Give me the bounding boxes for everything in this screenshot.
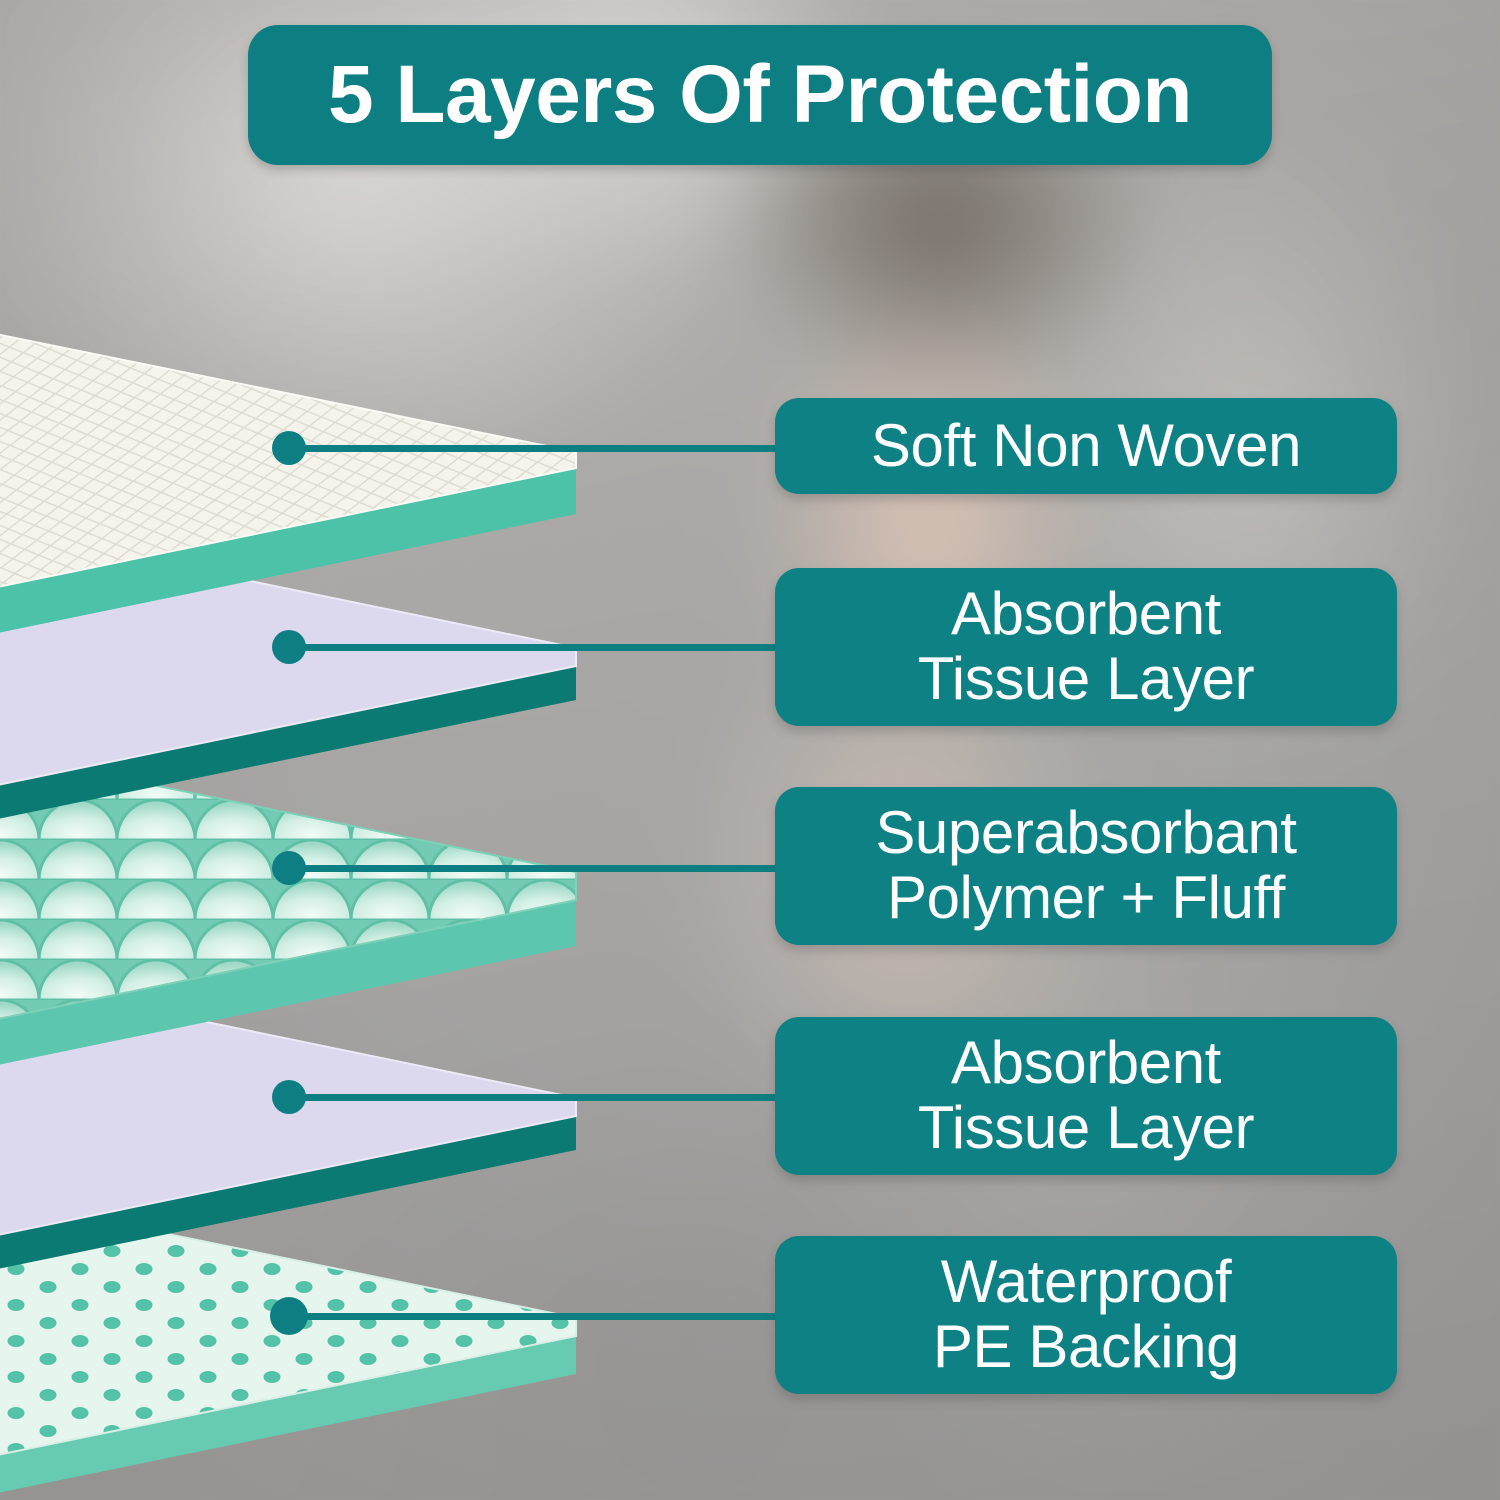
page-title: 5 Layers Of Protection	[248, 25, 1272, 165]
label-waterproof-pe-backing-text: Waterproof PE Backing	[907, 1250, 1265, 1380]
leader-line-2	[288, 644, 780, 651]
label-soft-non-woven-text: Soft Non Woven	[845, 414, 1327, 479]
label-soft-non-woven[interactable]: Soft Non Woven	[775, 398, 1397, 494]
leader-line-4	[288, 1094, 780, 1101]
leader-dot-1	[272, 431, 306, 465]
leader-line-5	[288, 1313, 780, 1320]
label-absorbent-tissue-bottom[interactable]: Absorbent Tissue Layer	[775, 1017, 1397, 1175]
leader-line-1	[288, 445, 780, 452]
label-absorbent-tissue-bottom-text: Absorbent Tissue Layer	[892, 1031, 1280, 1161]
page-title-text: 5 Layers Of Protection	[328, 54, 1192, 136]
leader-dot-2	[272, 630, 306, 664]
leader-line-3	[288, 865, 780, 872]
leader-dot-5	[270, 1297, 308, 1335]
label-absorbent-tissue-top[interactable]: Absorbent Tissue Layer	[775, 568, 1397, 726]
label-superabsorbant-polymer-fluff-text: Superabsorbant Polymer + Fluff	[849, 801, 1322, 931]
label-superabsorbant-polymer-fluff[interactable]: Superabsorbant Polymer + Fluff	[775, 787, 1397, 945]
label-absorbent-tissue-top-text: Absorbent Tissue Layer	[892, 582, 1280, 712]
infographic-canvas: 5 Layers Of Protection Soft Non Woven Ab…	[0, 0, 1500, 1500]
label-waterproof-pe-backing[interactable]: Waterproof PE Backing	[775, 1236, 1397, 1394]
leader-dot-3	[272, 851, 306, 885]
leader-dot-4	[272, 1080, 306, 1114]
